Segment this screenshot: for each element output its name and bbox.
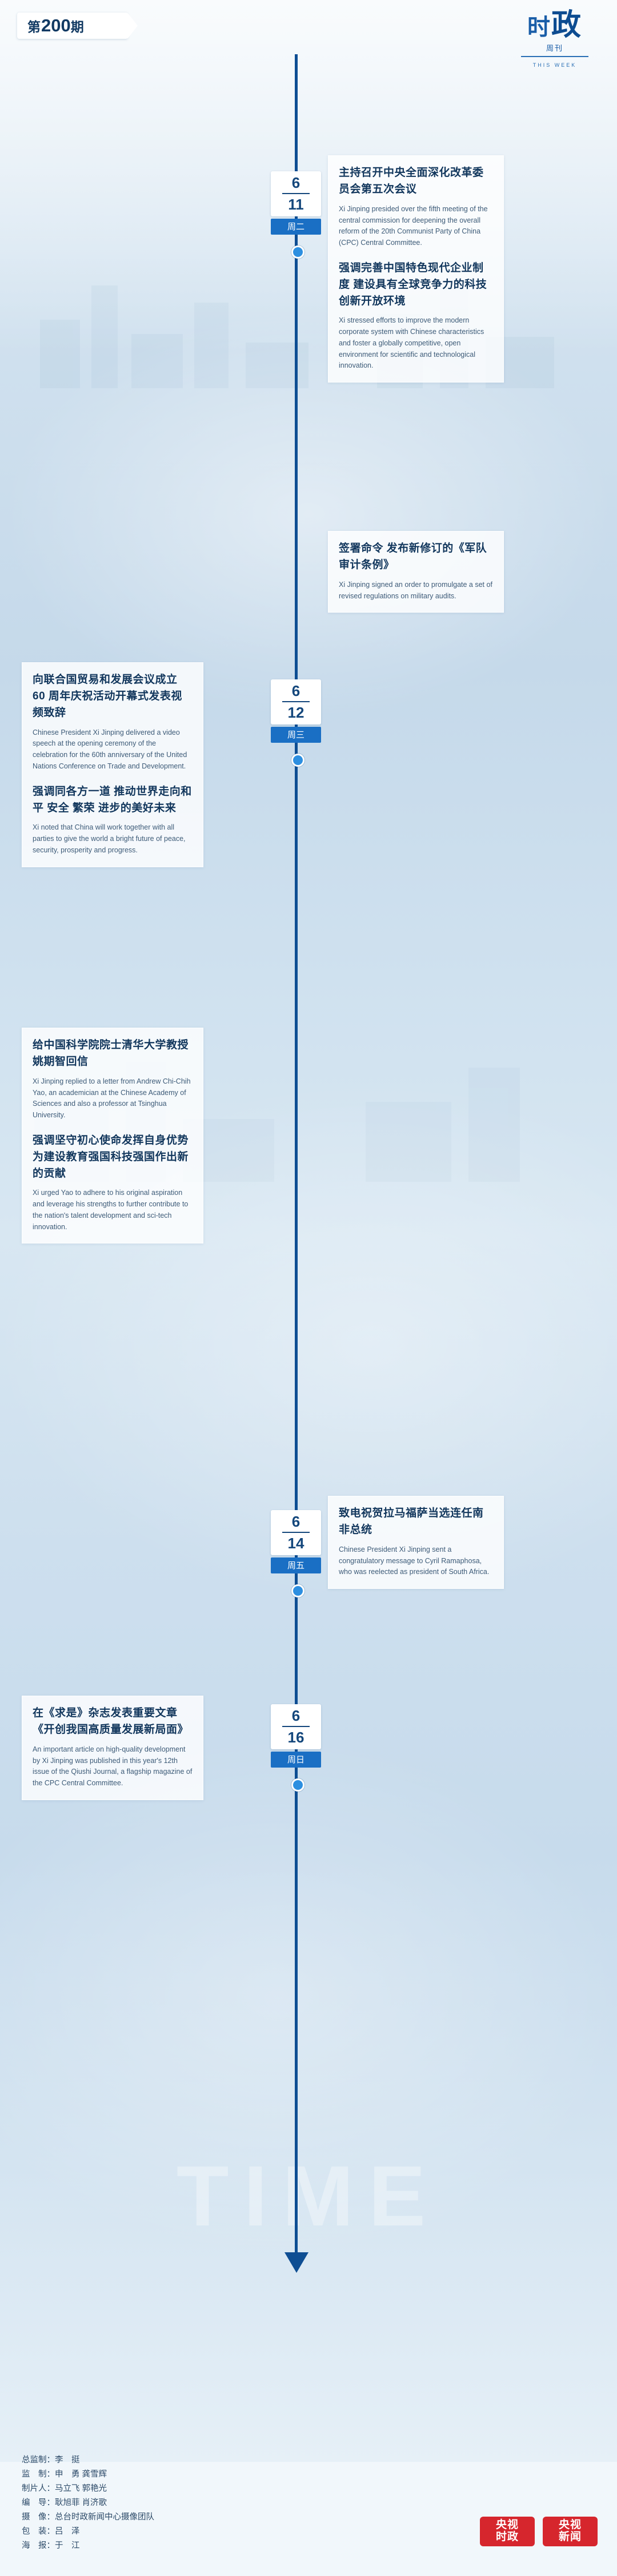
credit-value: 总台时政新闻中心摄像团队 xyxy=(55,2513,154,2522)
date-divider xyxy=(282,1726,310,1727)
logo-char-1: 时 xyxy=(527,15,551,40)
entry-card-yao-letter: 给中国科学院院士清华大学教授姚期智回信 Xi Jinping replied t… xyxy=(22,1028,203,1243)
credit-label: 编 导： xyxy=(22,2498,55,2507)
date-day: 14 xyxy=(271,1536,321,1551)
date-divider xyxy=(282,193,310,194)
entry-summary: An important article on high-quality dev… xyxy=(33,1744,193,1789)
date-weekday: 周三 xyxy=(271,727,321,743)
credit-label: 制片人： xyxy=(22,2484,55,2493)
date-divider xyxy=(282,1532,310,1533)
entry-summary: Xi Jinping replied to a letter from Andr… xyxy=(33,1076,193,1121)
entry-card-0611: 主持召开中央全面深化改革委员会第五次会议 Xi Jinping presided… xyxy=(328,155,504,383)
page-background: TIME xyxy=(0,0,617,2576)
date-weekday: 周日 xyxy=(271,1752,321,1768)
timeline-axis xyxy=(295,54,298,2258)
entry-summary: Xi Jinping presided over the fifth meeti… xyxy=(339,204,493,249)
timeline-dot-0614 xyxy=(291,1584,305,1597)
issue-badge: 第 200 期 xyxy=(17,13,128,39)
date-day: 11 xyxy=(271,197,321,212)
entry-headline: 在《求是》杂志发表重要文章《开创我国高质量发展新局面》 xyxy=(33,1705,193,1738)
date-divider xyxy=(282,701,310,702)
credit-value: 吕 泽 xyxy=(55,2527,80,2536)
entry-headline: 向联合国贸易和发展会议成立 60 周年庆祝活动开幕式发表视频致辞 xyxy=(33,672,193,722)
timeline-dot-0611 xyxy=(291,245,305,259)
date-card: 6 12 xyxy=(271,679,321,724)
logo-subtitle: 周刊 xyxy=(512,42,598,53)
entry-card-0616: 在《求是》杂志发表重要文章《开创我国高质量发展新局面》 An important… xyxy=(22,1696,203,1800)
credit-label: 总监制： xyxy=(22,2456,55,2465)
credit-value: 于 江 xyxy=(55,2541,80,2550)
credit-row: 总监制：李 挺 xyxy=(22,2453,154,2468)
entry-headline: 强调完善中国特色现代企业制度 建设具有全球竞争力的科技创新开放环境 xyxy=(339,260,493,310)
entry-headline: 签署命令 发布新修订的《军队审计条例》 xyxy=(339,541,493,574)
credit-row: 监 制：申 勇 龚雪辉 xyxy=(22,2468,154,2482)
program-logo: 时政 周刊 THIS WEEK xyxy=(512,10,598,72)
date-day: 12 xyxy=(271,705,321,720)
brand-line-1: 央视 xyxy=(496,2519,519,2531)
credit-row: 摄 像：总台时政新闻中心摄像团队 xyxy=(22,2510,154,2525)
brand-line-2: 时政 xyxy=(496,2531,519,2543)
credit-value: 李 挺 xyxy=(55,2456,80,2465)
entry-headline: 给中国科学院院士清华大学教授姚期智回信 xyxy=(33,1037,193,1070)
date-month: 6 xyxy=(271,1708,321,1723)
date-chip-0612: 6 12 周三 xyxy=(271,679,321,743)
entry-summary: Xi urged Yao to adhere to his original a… xyxy=(33,1188,193,1233)
date-card: 6 14 xyxy=(271,1510,321,1555)
date-card: 6 16 xyxy=(271,1704,321,1749)
date-month: 6 xyxy=(271,175,321,190)
logo-main: 时政 xyxy=(512,10,598,40)
entry-card-0614: 致电祝贺拉马福萨当选连任南非总统 Chinese President Xi Ji… xyxy=(328,1496,504,1589)
issue-suffix: 期 xyxy=(71,16,85,35)
footer: 总监制：李 挺 监 制：申 勇 龚雪辉 制片人：马立飞 郭艳光 编 导：耿旭菲 … xyxy=(0,2462,617,2576)
entry-headline: 强调坚守初心使命发挥自身优势 为建设教育强国科技强国作出新的贡献 xyxy=(33,1133,193,1182)
credit-label: 摄 像： xyxy=(22,2513,55,2522)
credit-value: 耿旭菲 肖济歌 xyxy=(55,2498,107,2507)
date-card: 6 11 xyxy=(271,171,321,216)
date-month: 6 xyxy=(271,1514,321,1529)
entry-summary: Xi stressed efforts to improve the moder… xyxy=(339,315,493,372)
entry-summary: Xi noted that China will work together w… xyxy=(33,822,193,856)
date-month: 6 xyxy=(271,683,321,698)
background-watermark: TIME xyxy=(177,2147,440,2245)
timeline-dot-0616 xyxy=(291,1778,305,1792)
entry-headline: 强调同各方一道 推动世界走向和平 安全 繁荣 进步的美好未来 xyxy=(33,784,193,817)
logo-char-2: 政 xyxy=(551,9,582,42)
entry-summary: Chinese President Xi Jinping sent a cong… xyxy=(339,1544,493,1578)
date-weekday: 周二 xyxy=(271,219,321,235)
brand-line-2: 新闻 xyxy=(559,2531,582,2543)
credit-row: 包 装：吕 泽 xyxy=(22,2525,154,2539)
issue-prefix: 第 xyxy=(27,16,41,35)
credit-value: 马立飞 郭艳光 xyxy=(55,2484,107,2493)
issue-number: 200 xyxy=(41,15,71,36)
entry-card-military-audit: 签署命令 发布新修订的《军队审计条例》 Xi Jinping signed an… xyxy=(328,531,504,613)
entry-headline: 主持召开中央全面深化改革委员会第五次会议 xyxy=(339,165,493,198)
timeline-dot-0612 xyxy=(291,754,305,767)
date-weekday: 周五 xyxy=(271,1557,321,1573)
brand-cctv-shizheng[interactable]: 央视 时政 xyxy=(480,2517,535,2546)
date-chip-0611: 6 11 周二 xyxy=(271,171,321,235)
entry-card-0612-unctad: 向联合国贸易和发展会议成立 60 周年庆祝活动开幕式发表视频致辞 Chinese… xyxy=(22,662,203,867)
credits-list: 总监制：李 挺 监 制：申 勇 龚雪辉 制片人：马立飞 郭艳光 编 导：耿旭菲 … xyxy=(22,2453,154,2553)
entry-summary: Chinese President Xi Jinping delivered a… xyxy=(33,727,193,772)
footer-brands: 央视 时政 央视 新闻 xyxy=(480,2517,598,2546)
logo-english: THIS WEEK xyxy=(512,62,598,68)
credit-label: 监 制： xyxy=(22,2470,55,2479)
credit-row: 海 报：于 江 xyxy=(22,2539,154,2553)
brand-cctv-news[interactable]: 央视 新闻 xyxy=(543,2517,598,2546)
timeline-arrow-icon xyxy=(285,2252,308,2273)
logo-rule xyxy=(521,56,588,57)
date-chip-0616: 6 16 周日 xyxy=(271,1704,321,1768)
credit-label: 包 装： xyxy=(22,2527,55,2536)
date-day: 16 xyxy=(271,1730,321,1745)
date-chip-0614: 6 14 周五 xyxy=(271,1510,321,1573)
credit-row: 编 导：耿旭菲 肖济歌 xyxy=(22,2496,154,2510)
entry-summary: Xi Jinping signed an order to promulgate… xyxy=(339,579,493,602)
credit-value: 申 勇 龚雪辉 xyxy=(55,2470,107,2479)
brand-line-1: 央视 xyxy=(559,2519,582,2531)
skyline-silhouette-upper xyxy=(23,268,594,388)
entry-headline: 致电祝贺拉马福萨当选连任南非总统 xyxy=(339,1506,493,1539)
credit-label: 海 报： xyxy=(22,2541,55,2550)
credit-row: 制片人：马立飞 郭艳光 xyxy=(22,2482,154,2496)
